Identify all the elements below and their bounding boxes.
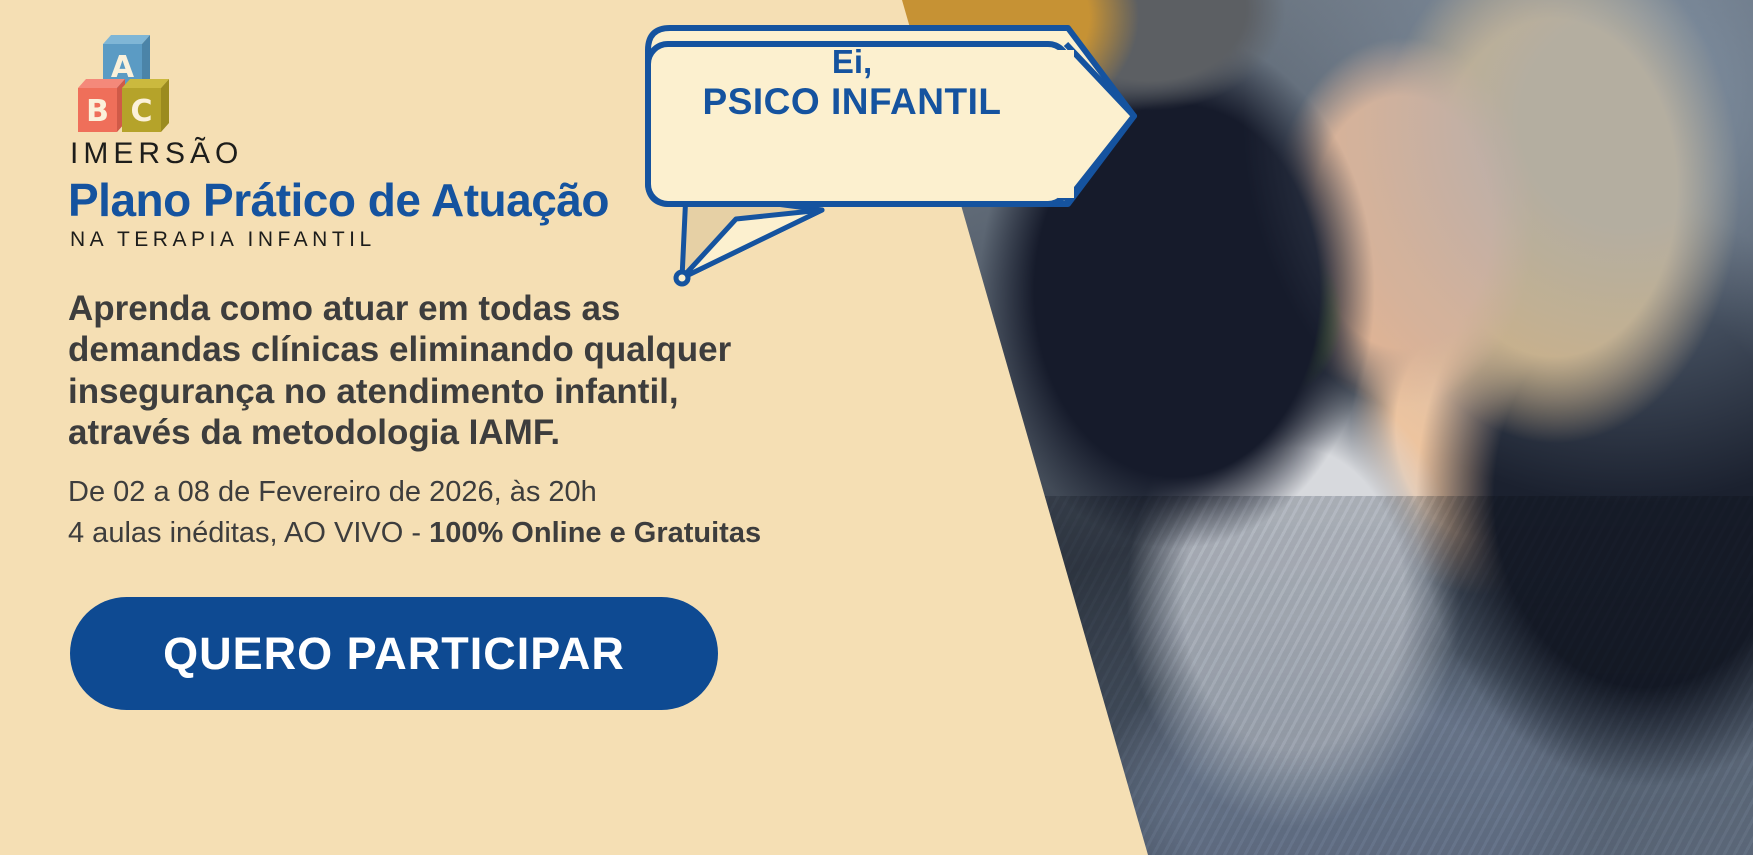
speech-bubble-line-1: Ei, <box>654 44 1050 81</box>
promo-banner: A B C IMERSÃO Plano Prático de Atuação N… <box>0 0 1753 855</box>
event-format-emphasis: 100% Online e Gratuitas <box>429 517 761 549</box>
abc-blocks-logo: A B C <box>70 27 188 137</box>
speech-bubble-line-2: PSICO INFANTIL <box>654 81 1050 122</box>
speech-bubble-text: Ei, PSICO INFANTIL <box>654 44 1050 122</box>
eyebrow-label: IMERSÃO <box>70 137 243 171</box>
headline-line-4: através da metodologia IAMF. <box>68 412 828 453</box>
page-subtitle: NA TERAPIA INFANTIL <box>70 228 376 252</box>
speech-bubble: Ei, PSICO INFANTIL <box>626 14 1146 304</box>
headline-line-2: demandas clínicas eliminando qualquer <box>68 329 828 370</box>
event-format-prefix: 4 aulas inéditas, AO VIVO - <box>68 517 429 549</box>
svg-text:B: B <box>86 94 109 129</box>
abc-blocks-icon: A B C <box>70 27 188 137</box>
headline: Aprenda como atuar em todas as demandas … <box>68 288 828 453</box>
event-format-line: 4 aulas inéditas, AO VIVO - 100% Online … <box>68 513 898 554</box>
event-date-line: De 02 a 08 de Fevereiro de 2026, às 20h <box>68 472 898 513</box>
quero-participar-button[interactable]: QUERO PARTICIPAR <box>70 597 718 710</box>
page-title: Plano Prático de Atuação <box>68 173 609 227</box>
event-details: De 02 a 08 de Fevereiro de 2026, às 20h … <box>68 472 898 554</box>
svg-text:C: C <box>130 94 152 129</box>
headline-line-3: insegurança no atendimento infantil, <box>68 371 828 412</box>
